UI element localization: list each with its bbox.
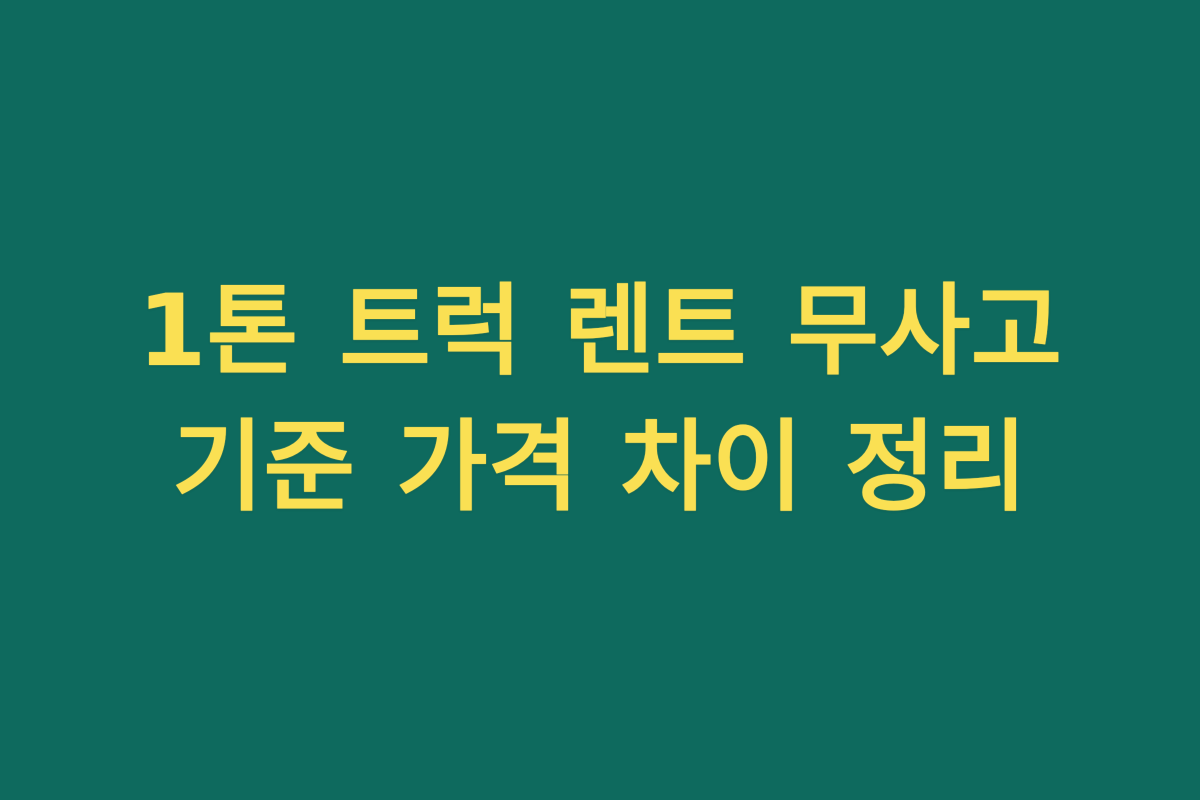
page-title: 1톤 트럭 렌트 무사고 기준 가격 차이 정리: [85, 264, 1115, 536]
headline-block: 1톤 트럭 렌트 무사고 기준 가격 차이 정리: [85, 264, 1115, 536]
title-card: 1톤 트럭 렌트 무사고 기준 가격 차이 정리: [0, 0, 1200, 800]
